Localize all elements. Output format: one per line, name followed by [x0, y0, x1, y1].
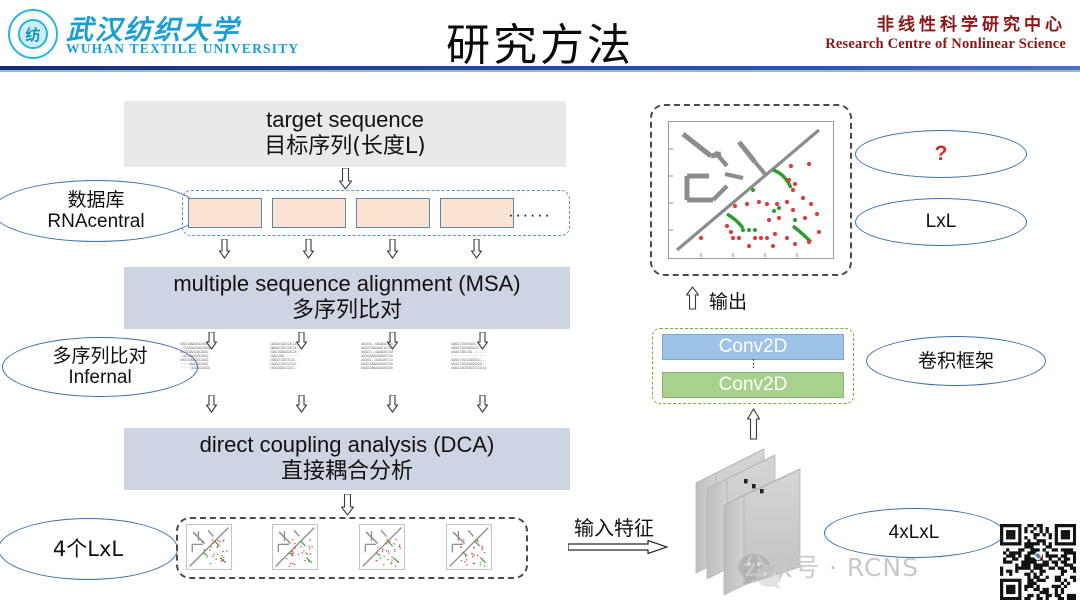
- stage-target-sequence-cn: 目标序列(长度L): [264, 134, 425, 161]
- msa-line: ······GGAGGGCAGGG: [180, 366, 242, 370]
- msa-line: AGGGGGAAAGGAUGCUGU: [361, 366, 423, 370]
- stage-msa-en: multiple sequence alignment (MSA): [173, 271, 520, 298]
- arrow-input-feature: [568, 540, 668, 554]
- ellipse-four-lxl-label: 4个LxL: [53, 537, 123, 562]
- ellipse-alignment-tool: 多序列比对 Infernal: [2, 337, 198, 397]
- arrow-output-icon: [686, 286, 699, 315]
- stage-msa-cn: 多序列比对: [292, 298, 402, 325]
- centre-name-en: Research Centre of Nonlinear Science: [825, 36, 1066, 53]
- slide-root: 纺 武汉纺织大学 WUHAN TEXTILE UNIVERSITY 研究方法 非…: [0, 0, 1080, 606]
- ellipse-lxl: LxL: [855, 198, 1027, 246]
- header-divider-thin: [0, 70, 1080, 72]
- ellipse-database-cn: 数据库: [67, 189, 124, 211]
- arrow-sequence-to-msa: [471, 239, 482, 259]
- ellipse-question: ?: [855, 130, 1027, 178]
- sequence-ellipsis: ······: [508, 205, 552, 225]
- ellipse-question-label: ?: [935, 142, 948, 167]
- arrow-alignment-to-dca: [387, 395, 398, 413]
- ellipse-four-x-lxl-label: 4xLxL: [889, 522, 940, 544]
- ellipse-conv-framework-label: 卷积框架: [918, 350, 994, 372]
- qr-code-icon: [1000, 524, 1076, 600]
- msa-text-block: GGGCGGAAGGGCAGGG--GCGGGAAGGGCAGGGGGGCGGA…: [180, 342, 242, 392]
- slide-header: 纺 武汉纺织大学 WUHAN TEXTILE UNIVERSITY 研究方法 非…: [0, 0, 1080, 70]
- msa-line: GAAUCCACUCGGGCCCACCA: [451, 366, 513, 370]
- arrow-alignment-to-dca: [477, 395, 488, 413]
- stage-msa: multiple sequence alignment (MSA) 多序列比对: [124, 267, 570, 329]
- stage-dca-cn: 直接耦合分析: [281, 459, 413, 486]
- ellipse-lxl-label: LxL: [926, 211, 957, 233]
- contact-map-thumbnail: [359, 524, 405, 570]
- arrow-sequence-to-msa: [219, 239, 230, 259]
- sequence-chip: [188, 198, 262, 228]
- msa-text-block: CAGGACGGGCCACCACWGGACCGCCCACCACGACAGUGAU…: [270, 342, 332, 392]
- arrow-alignment-to-dca: [206, 395, 217, 413]
- ellipse-alignment-en: Infernal: [68, 367, 131, 389]
- ellipse-four-lxl: 4个LxL: [0, 518, 178, 580]
- conv-stack-ellipsis: ⋮: [748, 361, 759, 368]
- conv2d-layer-top: Conv2D: [662, 334, 844, 360]
- contact-map-thumbnail: [446, 524, 492, 570]
- ellipse-conv-framework: 卷积框架: [866, 336, 1046, 386]
- sequence-chip: [356, 198, 430, 228]
- stage-dca: direct coupling analysis (DCA) 直接耦合分析: [124, 428, 570, 490]
- msa-line: CAGGAGGGCCCACC-: [270, 366, 332, 370]
- predicted-contact-map: [668, 121, 834, 259]
- arrow-alignment-to-dca: [296, 395, 307, 413]
- ellipse-database: 数据库 RNAcentral: [0, 180, 200, 242]
- stage-dca-en: direct coupling analysis (DCA): [200, 432, 495, 459]
- output-label-row: 输出: [686, 286, 747, 315]
- ellipse-alignment-cn: 多序列比对: [52, 345, 147, 367]
- stage-target-sequence-en: target sequence: [266, 107, 424, 134]
- sequence-chip: [272, 198, 346, 228]
- stage-target-sequence: target sequence 目标序列(长度L): [124, 101, 566, 167]
- sequence-chip: [440, 198, 514, 228]
- contact-map-thumbnail: [272, 524, 318, 570]
- arrow-sequence-to-msa: [387, 239, 398, 259]
- msa-text-block: GAAUCCCGUCGGGG------GAGUCCCGGUGGACCC----…: [451, 342, 513, 392]
- arrow-dca-to-maps: [341, 494, 352, 516]
- output-label: 输出: [709, 287, 747, 314]
- arrow-features-to-conv: [747, 408, 758, 440]
- centre-name-cn: 非线性科学研究中心: [877, 10, 1066, 35]
- feature-plane-stack-icon: [694, 440, 844, 606]
- arrow-target-to-sequences: [339, 168, 350, 190]
- ellipse-four-x-lxl: 4xLxL: [824, 508, 1004, 558]
- input-feature-label: 输入特征: [574, 512, 654, 541]
- msa-text-block: AGCUGG--GAGAUGCCGUAGCAGCAAAAAGCACCGUAGGU…: [361, 342, 423, 392]
- contact-map-thumbnail: [186, 524, 232, 570]
- ellipse-database-en: RNAcentral: [47, 211, 144, 233]
- arrow-sequence-to-msa: [303, 239, 314, 259]
- conv2d-layer-bottom: Conv2D: [662, 372, 844, 398]
